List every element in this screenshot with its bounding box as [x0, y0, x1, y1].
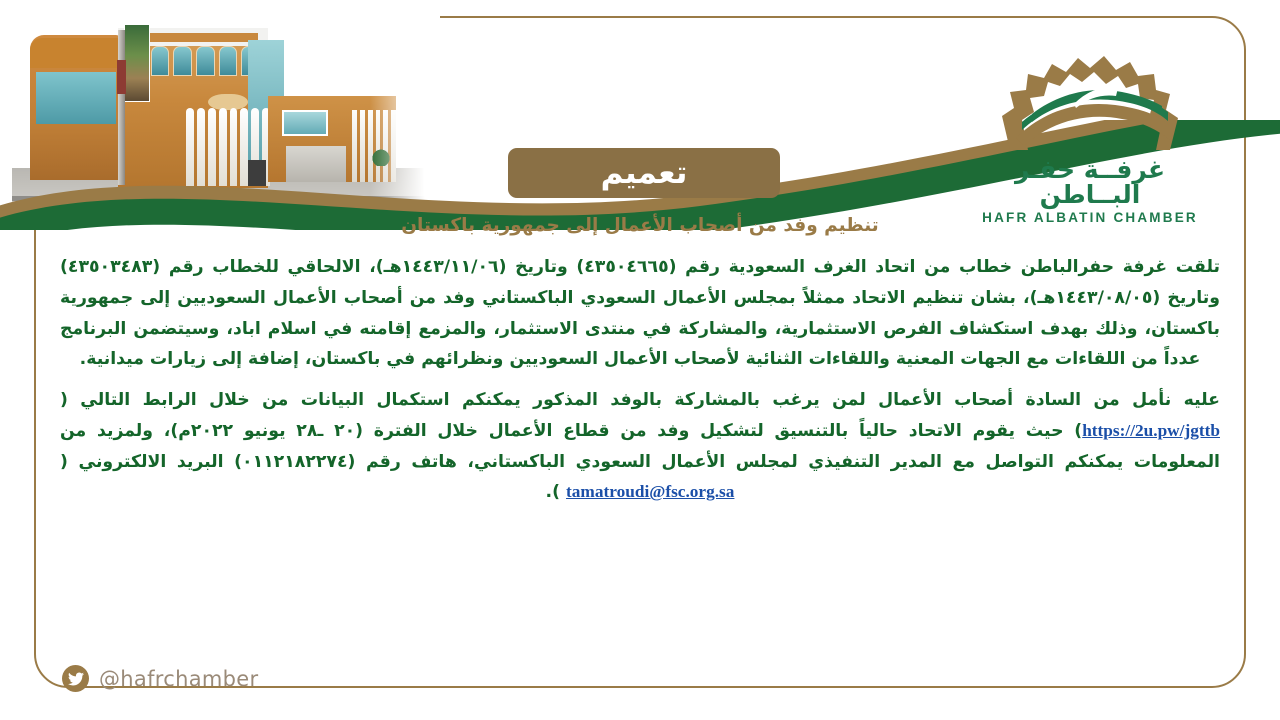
chamber-crown-gear-icon — [970, 46, 1210, 154]
circular-title-badge: تعميم — [508, 148, 780, 198]
paragraph-2-text-middle: ) حيث يقوم الاتحاد حالياً بالتنسيق لتشكي… — [60, 421, 1220, 472]
circular-content: تنظيم وفد من أصحاب الأعمال إلى جمهورية ب… — [60, 215, 1220, 514]
circular-paragraph-2: عليه نأمل من السادة أصحاب الأعمال لمن ير… — [60, 385, 1220, 508]
paragraph-2-text-before-link: عليه نأمل من السادة أصحاب الأعمال لمن ير… — [60, 390, 1220, 410]
social-footer[interactable]: @hafrchamber — [62, 665, 258, 692]
twitter-handle[interactable]: @hafrchamber — [99, 667, 258, 691]
circular-subtitle: تنظيم وفد من أصحاب الأعمال إلى جمهورية ب… — [60, 215, 1220, 236]
registration-link[interactable]: https://2u.pw/jgttb — [1082, 416, 1220, 447]
twitter-bird-icon[interactable] — [62, 665, 89, 692]
photo-left-tower-glass — [36, 72, 116, 124]
contact-email-link[interactable]: tamatroudi@fsc.org.sa — [566, 477, 734, 508]
paragraph-2-text-after-email: ). — [546, 482, 566, 502]
photo-flag — [117, 60, 126, 94]
photo-banner-portrait — [124, 24, 150, 102]
photo-left-tower-band — [30, 38, 120, 68]
logo-arabic-name: غرفــة حفـر البــاطن — [970, 157, 1210, 207]
chamber-logo: غرفــة حفـر البــاطن HAFR ALBATIN CHAMBE… — [970, 46, 1210, 196]
circular-page: غرفــة حفـر البــاطن HAFR ALBATIN CHAMBE… — [0, 0, 1280, 720]
circular-paragraph-1: تلقت غرفة حفرالباطن خطاب من اتحاد الغرف … — [60, 252, 1220, 375]
